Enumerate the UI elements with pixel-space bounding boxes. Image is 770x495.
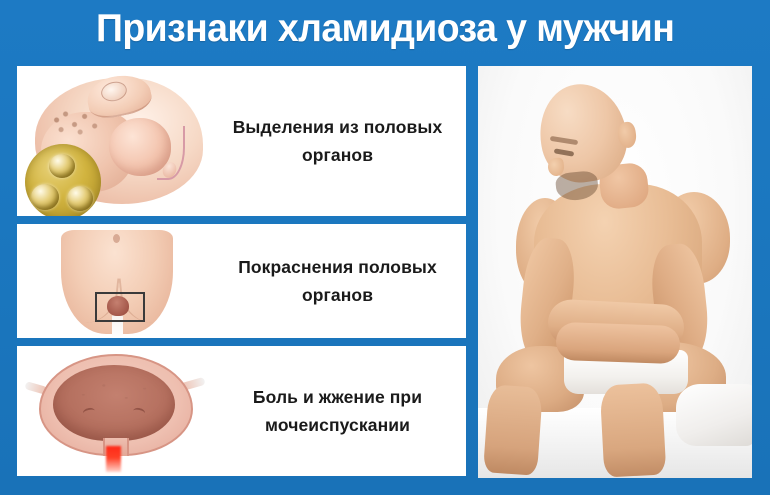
droplet-icon [49, 154, 75, 178]
forearm-lower [555, 322, 680, 364]
highlight-box [95, 292, 145, 322]
symptom-panel-redness: Покраснения половых органов [17, 224, 466, 338]
seated-man-photo [478, 66, 752, 478]
seated-man-photo-panel [478, 66, 752, 478]
groin-figure [17, 224, 217, 338]
droplet-icon [31, 184, 59, 210]
symptom-caption: Выделения из половых органов [217, 113, 466, 169]
symptom-panel-discharge: Выделения из половых органов [17, 66, 466, 216]
symptom-caption: Покраснения половых органов [217, 253, 466, 309]
bed-sheet-fold [676, 384, 752, 446]
droplet-icon [67, 186, 93, 211]
discharge-illustration [17, 66, 217, 216]
burning-urethra-indicator [106, 446, 121, 472]
symptom-caption: Боль и жжение при мочеиспускании [217, 383, 466, 439]
bladder-rugae-texture [63, 370, 165, 432]
shin-left [483, 384, 543, 476]
navel-shape [113, 234, 120, 243]
title-bar: Признаки хламидиоза у мужчин [0, 0, 770, 58]
redness-illustration [17, 224, 217, 338]
page-title: Признаки хламидиоза у мужчин [96, 7, 674, 51]
symptom-panel-painful-urination: Боль и жжение при мочеиспускании [17, 346, 466, 476]
male-genital-figure [17, 66, 217, 216]
infographic-root: Признаки хламидиоза у мужчин Выделения [0, 0, 770, 495]
shin-right [600, 382, 667, 477]
bladder-illustration [17, 346, 217, 476]
discharge-droplets-inset [25, 144, 101, 216]
bladder-figure [17, 346, 217, 476]
